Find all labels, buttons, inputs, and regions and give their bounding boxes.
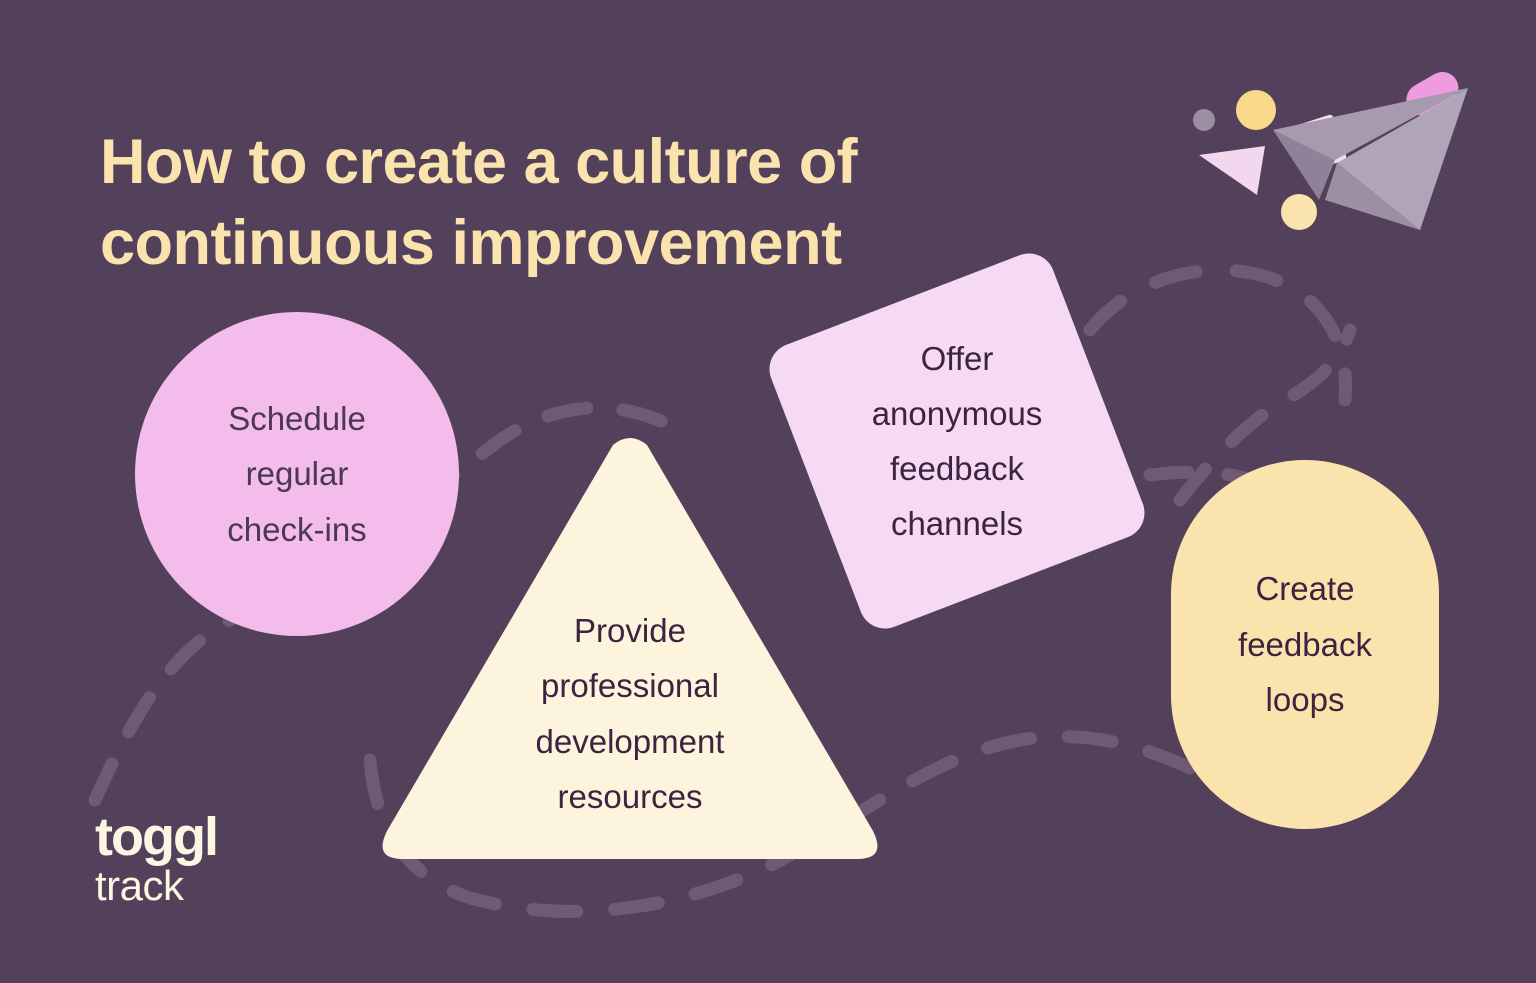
gold-circle-icon — [1236, 90, 1276, 130]
shape-diamond-offer-feedback[interactable]: Offer anonymous feedback channels — [806, 290, 1108, 592]
gray-dot-icon — [1193, 109, 1215, 131]
paper-plane-icon — [1185, 70, 1485, 265]
shape-pill-label: Create feedback loops — [1238, 561, 1372, 727]
shape-pill-create-feedback-loops[interactable]: Create feedback loops — [1171, 460, 1439, 829]
shape-circle-label: Schedule regular check-ins — [227, 391, 366, 556]
logo-primary-text: toggl — [95, 812, 295, 863]
shape-diamond-label: Offer anonymous feedback channels — [746, 242, 1168, 640]
infographic-canvas: How to create a culture of continuous im… — [0, 0, 1536, 983]
toggl-track-logo[interactable]: toggl track — [95, 812, 295, 912]
light-pink-triangle-icon — [1199, 146, 1265, 195]
logo-secondary-text: track — [95, 865, 295, 907]
pale-yellow-circle-icon — [1281, 194, 1317, 230]
